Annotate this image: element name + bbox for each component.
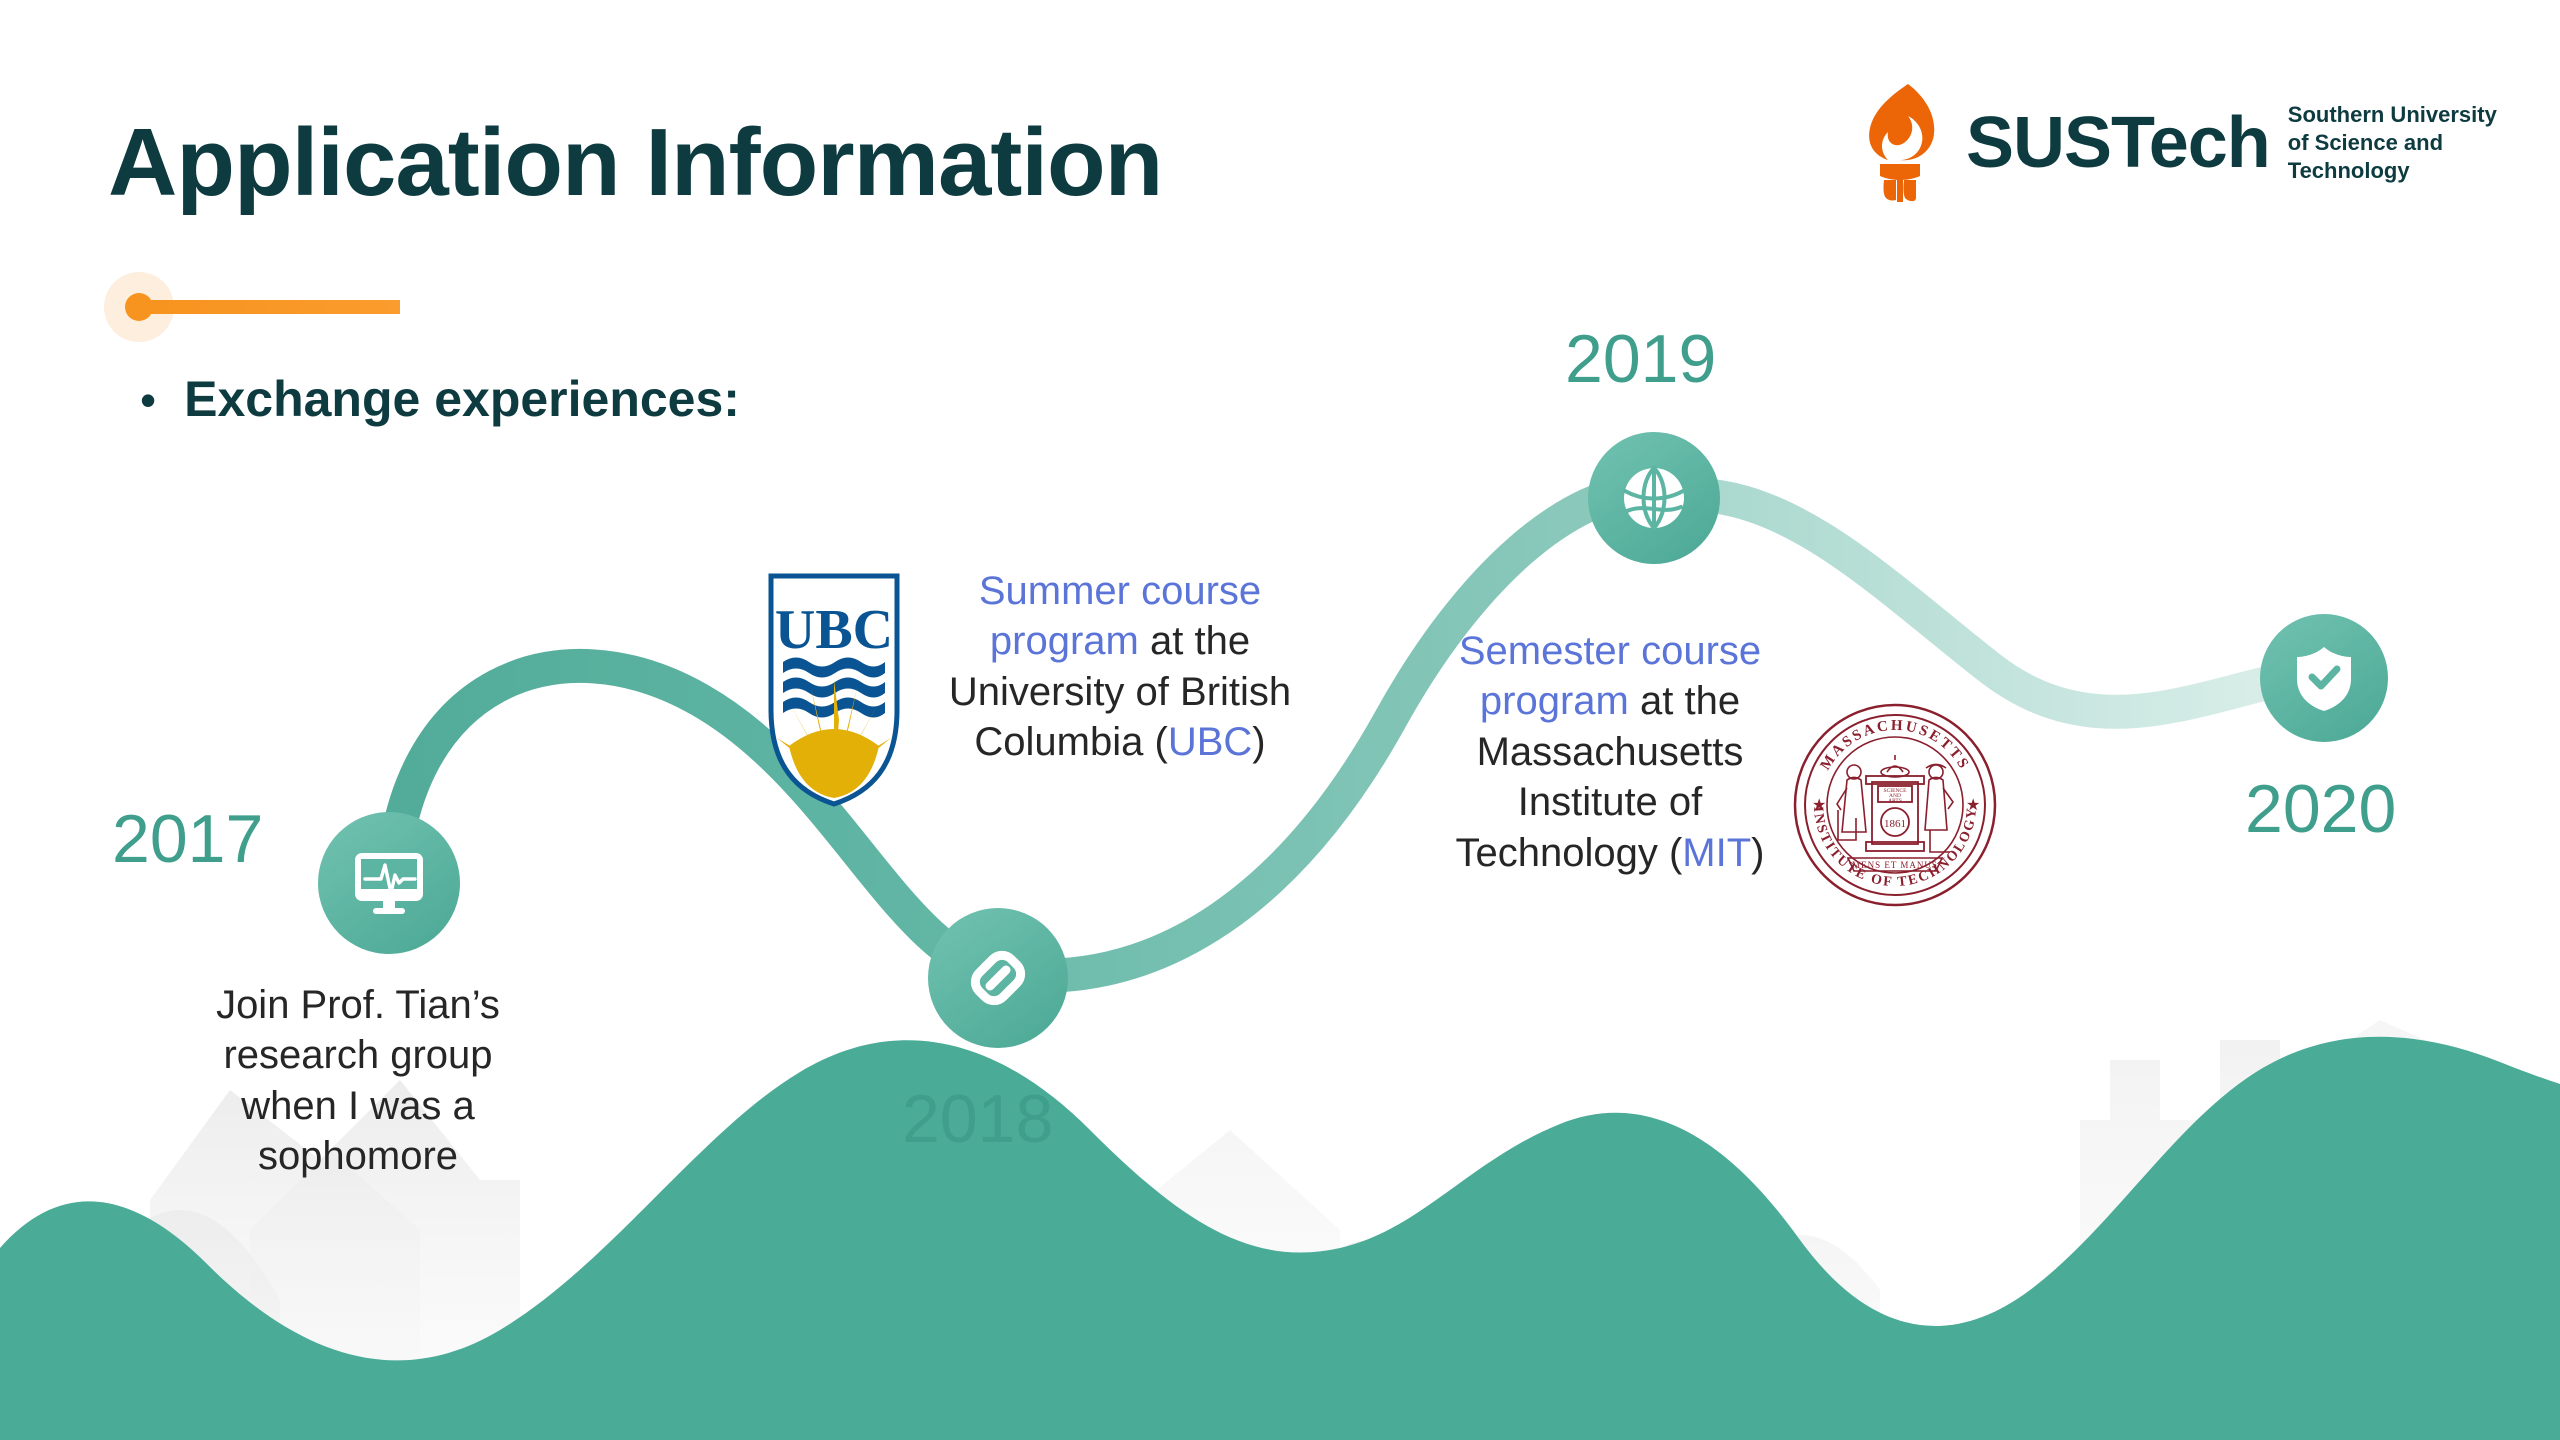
svg-text:★: ★ <box>1966 797 1980 814</box>
timeline-year-2018: 2018 <box>902 1080 1053 1158</box>
bullet-label: Exchange experiences: <box>184 370 740 428</box>
timeline-node-2019[interactable] <box>1588 432 1720 564</box>
bullet-marker-icon: • <box>140 377 156 423</box>
timeline-year-2020: 2020 <box>2245 770 2396 848</box>
svg-text:UBC: UBC <box>775 599 893 661</box>
timeline-caption-2018: Summer course program at the University … <box>940 566 1300 768</box>
accent-dot <box>125 293 153 321</box>
timeline-year-2019: 2019 <box>1565 320 1716 398</box>
ubc-shield-icon: UBC <box>765 570 903 810</box>
curve-segment-2017-2018 <box>392 666 1005 975</box>
timeline-year-2017: 2017 <box>112 800 263 878</box>
sustech-tagline-line2: of Science and <box>2288 129 2497 157</box>
monitor-ecg-icon <box>347 841 431 925</box>
caption-highlight: MIT <box>1682 831 1751 875</box>
caption-line: research group <box>178 1030 538 1080</box>
sustech-wordmark-bold: SUST <box>1966 103 2149 183</box>
link-chain-icon <box>957 937 1039 1019</box>
sustech-tagline: Southern University of Science and Techn… <box>2288 101 2497 185</box>
caption-plain: ) <box>1751 831 1764 875</box>
accent-bar <box>138 300 400 314</box>
ubc-shield-logo: UBC <box>765 570 903 815</box>
bullet-row: • Exchange experiences: <box>140 370 740 428</box>
mit-plaque-line3: ARTS <box>1888 798 1902 804</box>
timeline-node-2020[interactable] <box>2260 614 2388 742</box>
caption-line: when I was a <box>178 1081 538 1131</box>
title-accent-rule <box>104 272 424 342</box>
timeline-caption-2017: Join Prof. Tian’s research group when I … <box>178 980 538 1182</box>
svg-text:★: ★ <box>1812 797 1826 814</box>
sustech-wordmark: SUSTech <box>1966 107 2270 179</box>
caption-line: Join Prof. Tian’s <box>178 980 538 1030</box>
timeline-node-2017[interactable] <box>318 812 460 954</box>
mit-founding-year: 1861 <box>1884 818 1906 830</box>
sustech-tagline-line3: Technology <box>2288 157 2497 185</box>
sustech-torch-icon <box>1850 80 1950 206</box>
mit-seal-logo: MASSACHUSETTS INSTITUTE OF TECHNOLOGY ★ … <box>1790 700 2000 915</box>
page-title: Application Information <box>108 108 1162 218</box>
caption-plain: ) <box>1252 720 1265 764</box>
sustech-wordmark-light: ech <box>2149 103 2270 183</box>
slide-canvas: Application Information • Exchange exper… <box>0 0 2560 1440</box>
globe-icon <box>1615 459 1693 537</box>
timeline-caption-2019: Semester course program at the Massachus… <box>1430 626 1790 878</box>
caption-highlight: UBC <box>1168 720 1252 764</box>
sustech-logo: SUSTech Southern University of Science a… <box>1850 80 2497 206</box>
timeline-node-2018[interactable] <box>928 908 1068 1048</box>
mit-seal-icon: MASSACHUSETTS INSTITUTE OF TECHNOLOGY ★ … <box>1790 700 2000 910</box>
shield-check-icon <box>2287 641 2361 715</box>
caption-line: sophomore <box>178 1131 538 1181</box>
mit-motto-text: MENS ET MANUS <box>1852 860 1938 870</box>
sustech-tagline-line1: Southern University <box>2288 101 2497 129</box>
